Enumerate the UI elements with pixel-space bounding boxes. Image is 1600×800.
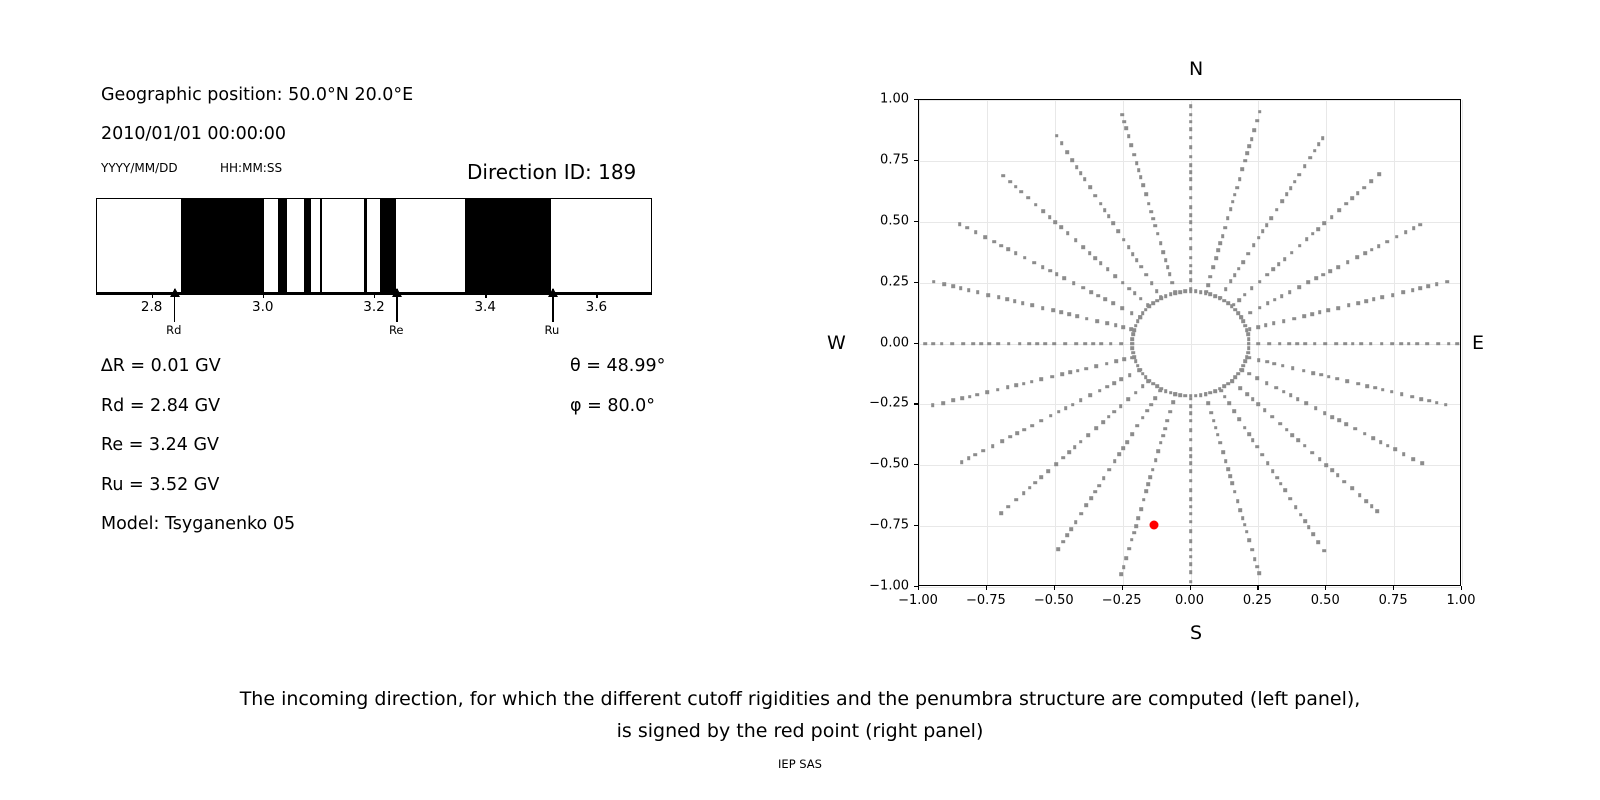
direction-point [1014, 498, 1018, 502]
direction-point [1288, 497, 1292, 501]
direction-point [1263, 408, 1267, 412]
direction-point [1226, 217, 1230, 221]
direction-point [1331, 415, 1335, 419]
direction-point [1313, 342, 1317, 346]
direction-point [1363, 432, 1367, 436]
angle-parameter-row: θ = 48.99° [570, 356, 665, 376]
direction-point [1415, 342, 1419, 346]
direction-point [1189, 163, 1193, 167]
direction-point [1407, 342, 1411, 346]
direction-point [1224, 287, 1228, 291]
direction-point [1160, 387, 1164, 391]
direction-point [1245, 530, 1249, 534]
direction-point [1142, 498, 1146, 502]
direction-point [958, 222, 962, 226]
direction-point [1049, 414, 1053, 418]
direction-point [1412, 226, 1416, 230]
direction-point [1189, 462, 1193, 466]
direction-point [1393, 448, 1397, 452]
direction-point [1107, 415, 1111, 419]
direction-point [1296, 438, 1300, 442]
direction-point [1418, 223, 1422, 227]
direction-point [1189, 278, 1193, 282]
direction-point [1337, 419, 1341, 423]
x-axis-tick-label: 0.00 [1175, 593, 1204, 608]
direction-point [1402, 452, 1406, 456]
penumbra-band [278, 199, 287, 292]
direction-point [1121, 447, 1125, 451]
direction-point [1209, 293, 1213, 297]
direction-point [1302, 369, 1306, 373]
direction-point [1090, 290, 1094, 294]
direction-point [1233, 490, 1237, 494]
direction-point [1189, 247, 1193, 251]
direction-point [1141, 385, 1145, 389]
direction-point [1327, 375, 1331, 379]
direction-point [1267, 342, 1271, 346]
direction-point [1071, 403, 1075, 407]
direction-point [1084, 367, 1088, 371]
direction-point [1113, 410, 1117, 414]
direction-point [1372, 298, 1376, 302]
x-axis-tick-label: 1.00 [1447, 593, 1476, 608]
direction-point [1356, 382, 1360, 386]
direction-point [1040, 419, 1044, 423]
direction-point [1279, 482, 1283, 486]
direction-point [1022, 428, 1026, 432]
x-axis-tick-label: 0.50 [1311, 593, 1340, 608]
direction-point [1064, 406, 1068, 410]
direction-point [1214, 256, 1218, 260]
direction-point [1199, 290, 1203, 294]
direction-point [1074, 342, 1078, 346]
direction-point [1020, 190, 1024, 194]
direction-point [1314, 407, 1318, 411]
direction-point [1303, 444, 1307, 448]
direction-point [1168, 272, 1172, 276]
direction-point [1358, 493, 1362, 497]
rigidity-marker-label: Re [389, 323, 404, 337]
figure-caption: The incoming direction, for which the di… [0, 683, 1600, 747]
direction-point [1447, 342, 1451, 346]
direction-point [1051, 309, 1055, 313]
direction-point [1065, 150, 1069, 154]
direction-point [1337, 265, 1341, 269]
compass-label-north: N [1189, 58, 1203, 80]
direction-point [1056, 547, 1060, 551]
direction-point [1189, 178, 1193, 182]
direction-point [1060, 142, 1064, 146]
direction-point [1322, 549, 1326, 553]
direction-point [1336, 306, 1340, 310]
footer-text: IEP SAS [0, 757, 1600, 771]
direction-point [1269, 216, 1273, 220]
direction-point [1343, 480, 1347, 484]
direction-point [1412, 457, 1416, 461]
parameter-row: Re = 3.24 GV [101, 435, 219, 455]
direction-point [1189, 520, 1193, 524]
direction-point [1385, 240, 1389, 244]
direction-point [1094, 426, 1098, 430]
direction-point [1039, 476, 1043, 480]
y-axis-tick-label: −0.75 [854, 518, 909, 533]
direction-point [1217, 248, 1221, 252]
direction-point [1277, 263, 1281, 267]
direction-point [961, 342, 965, 346]
direction-point [1189, 469, 1193, 473]
direction-point [1067, 312, 1071, 316]
direction-point [1015, 431, 1019, 435]
direction-point [1125, 440, 1129, 444]
gridline-vertical [1394, 100, 1395, 585]
direction-point [1272, 322, 1276, 326]
direction-point [1343, 342, 1347, 346]
direction-point [1168, 410, 1172, 414]
direction-point [1048, 216, 1052, 220]
direction-point [1289, 393, 1293, 397]
direction-point [1021, 301, 1025, 305]
penumbra-band [364, 199, 367, 292]
direction-point [1411, 288, 1415, 292]
direction-point [1141, 372, 1145, 376]
direction-point [1214, 426, 1218, 430]
arrow-head-icon [548, 288, 558, 297]
penumbra-band-chart [96, 198, 652, 293]
y-axis-tick [914, 221, 918, 222]
direction-point [1238, 177, 1242, 181]
caption-line-2: is signed by the red point (right panel) [0, 715, 1600, 747]
direction-point [1132, 355, 1136, 359]
direction-point [1189, 529, 1193, 533]
direction-point [1122, 238, 1126, 242]
direction-point [1325, 464, 1329, 468]
direction-point [1256, 376, 1260, 380]
direction-point [1288, 290, 1292, 294]
direction-point [1079, 171, 1083, 175]
direction-point [1213, 294, 1217, 298]
direction-point [1317, 143, 1321, 147]
direction-point [992, 240, 996, 244]
direction-point [1065, 534, 1069, 538]
direction-point [1346, 379, 1350, 383]
direction-point [976, 291, 980, 295]
direction-point [1222, 299, 1226, 303]
direction-point [1174, 291, 1178, 295]
direction-point [1189, 120, 1193, 124]
direction-point [980, 342, 984, 346]
axis-tick [263, 293, 264, 298]
direction-point [1351, 342, 1355, 346]
direction-point [1136, 517, 1140, 521]
direction-point [1189, 555, 1193, 559]
direction-point [1376, 509, 1380, 513]
direction-point [1298, 244, 1302, 248]
direction-point [1106, 385, 1110, 389]
direction-point [1106, 267, 1110, 271]
direction-point [1007, 505, 1011, 509]
direction-point [1008, 435, 1012, 439]
direction-point [1099, 261, 1103, 265]
parameter-row: Ru = 3.52 GV [101, 475, 219, 495]
gridline-horizontal [919, 344, 1460, 345]
parameter-row: ∆R = 0.01 GV [101, 356, 221, 376]
direction-point [1081, 286, 1085, 290]
direction-point [1030, 424, 1034, 428]
direction-point [1400, 393, 1404, 397]
direction-point [1257, 358, 1261, 362]
direction-point [1107, 468, 1111, 472]
direction-point [1435, 283, 1439, 287]
direction-point [1330, 215, 1334, 219]
gridline-vertical [1462, 100, 1463, 585]
direction-point [1060, 311, 1064, 315]
y-axis-tick-label: −0.25 [854, 396, 909, 411]
direction-point [1324, 342, 1328, 346]
direction-point [1370, 248, 1374, 252]
direction-point [931, 404, 935, 408]
direction-point [1121, 306, 1125, 310]
direction-point [1107, 215, 1111, 219]
direction-point [1103, 209, 1107, 213]
direction-point [1244, 324, 1248, 328]
direction-point [1370, 504, 1374, 508]
direction-point [1068, 371, 1072, 375]
direction-point [1303, 342, 1307, 346]
axis-tick-label: 3.0 [252, 299, 273, 315]
direction-point [1189, 479, 1193, 483]
penumbra-band [181, 199, 265, 292]
direction-point [1059, 226, 1063, 230]
direction-point [1335, 377, 1339, 381]
direction-point [1237, 372, 1241, 376]
direction-point [1248, 539, 1252, 543]
direction-point [1299, 513, 1303, 517]
direction-point [1257, 571, 1261, 575]
direction-point [1221, 235, 1225, 239]
direction-point [1258, 306, 1262, 310]
direction-point [1040, 378, 1044, 382]
direction-point [1013, 299, 1017, 303]
direction-point [1136, 364, 1140, 368]
gridline-horizontal [919, 465, 1460, 466]
direction-point [1391, 342, 1395, 346]
direction-point [1131, 252, 1135, 256]
direction-point [1119, 378, 1123, 382]
direction-point [1131, 333, 1135, 337]
gridline-horizontal [919, 283, 1460, 284]
direction-point [1079, 512, 1083, 516]
direction-point [1381, 388, 1385, 392]
direction-point [1075, 165, 1079, 169]
y-axis-tick [914, 586, 918, 587]
x-axis-tick [1190, 586, 1191, 590]
direction-point [967, 457, 971, 461]
direction-point [1084, 342, 1088, 346]
direction-point [1189, 105, 1193, 109]
direction-point [1229, 207, 1233, 211]
direction-point [1189, 512, 1193, 516]
y-axis-tick [914, 160, 918, 161]
direction-point [1222, 385, 1226, 389]
direction-point [1099, 202, 1103, 206]
direction-point [1308, 156, 1312, 160]
direction-point [1189, 570, 1193, 574]
direction-point [1120, 342, 1124, 346]
direction-point [1164, 389, 1168, 393]
direction-point [1189, 206, 1193, 210]
direction-point [1153, 224, 1157, 228]
direction-point [1247, 346, 1251, 350]
direction-point [1356, 192, 1360, 196]
x-axis-tick [1325, 586, 1326, 590]
direction-point [1149, 476, 1153, 480]
direction-point [1130, 342, 1134, 346]
direction-point [1243, 293, 1247, 297]
direction-point [1243, 426, 1247, 430]
direction-point [1061, 540, 1065, 544]
direction-point [1189, 170, 1193, 174]
direction-point [1245, 328, 1249, 332]
direction-point [1379, 440, 1383, 444]
direction-point [1132, 153, 1136, 157]
direction-point [1420, 462, 1424, 466]
x-axis-tick-label: 0.25 [1243, 593, 1272, 608]
direction-point [1093, 490, 1097, 494]
direction-point [1246, 252, 1250, 256]
direction-point [1247, 342, 1251, 346]
direction-point [1105, 322, 1109, 326]
direction-point [1302, 314, 1306, 318]
direction-point [1219, 242, 1223, 246]
direction-point [1127, 134, 1131, 138]
penumbra-band [380, 199, 397, 292]
direction-point [1000, 244, 1004, 248]
direction-point [1226, 468, 1230, 472]
direction-point [1236, 499, 1240, 503]
direction-point [1135, 258, 1139, 262]
direction-point [1224, 460, 1228, 464]
direction-point [1265, 273, 1269, 277]
direction-point [1072, 281, 1076, 285]
arrow-head-icon [170, 288, 180, 297]
penumbra-band [465, 199, 551, 292]
direction-point [1260, 453, 1264, 457]
direction-point [1221, 450, 1225, 454]
direction-point [1233, 375, 1237, 379]
direction-point [1083, 178, 1087, 182]
direction-point [974, 453, 978, 457]
direction-point [1399, 342, 1403, 346]
direction-point [1030, 304, 1034, 308]
direction-point [1085, 317, 1089, 321]
direction-point [1455, 342, 1459, 346]
direction-point [1264, 324, 1268, 328]
direction-point [1391, 293, 1395, 297]
direction-point [1189, 404, 1193, 408]
direction-point [1274, 386, 1278, 390]
direction-point [1144, 192, 1148, 196]
direction-point [1145, 489, 1149, 493]
y-axis-tick-label: −1.00 [854, 579, 909, 594]
date-format-label: YYYY/MM/DD [101, 161, 178, 175]
direction-point [1164, 259, 1168, 263]
direction-point [1204, 392, 1208, 396]
direction-point [1101, 420, 1105, 424]
direction-point [1120, 573, 1124, 577]
direction-point [1189, 127, 1193, 131]
direction-point [1189, 228, 1193, 232]
direction-point [1252, 128, 1256, 132]
direction-point [1233, 273, 1237, 277]
direction-point [1297, 173, 1301, 177]
y-axis-tick [914, 282, 918, 283]
direction-point [1271, 469, 1275, 473]
direction-point [1066, 232, 1070, 236]
direction-point [968, 395, 972, 399]
direction-point [1139, 297, 1143, 301]
direction-point [1166, 265, 1170, 269]
direction-point [1130, 433, 1134, 437]
direction-point [1022, 382, 1026, 386]
direction-point [1283, 257, 1287, 261]
direction-point [1088, 185, 1092, 189]
direction-point [1283, 489, 1287, 493]
direction-point [1134, 391, 1138, 395]
y-axis-tick [914, 525, 918, 526]
direction-point [960, 397, 964, 401]
direction-point [1189, 580, 1193, 584]
direction-point [1230, 379, 1234, 383]
direction-point [1209, 411, 1213, 415]
x-axis-tick [1054, 586, 1055, 590]
gridline-horizontal [919, 526, 1460, 527]
direction-point [1127, 547, 1131, 551]
direction-point [1255, 445, 1259, 449]
direction-point [1336, 474, 1340, 478]
direction-point [1014, 251, 1018, 255]
right-panel: N S W E −1.00−1.00−0.75−0.75−0.50−0.50−0… [800, 0, 1600, 660]
direction-point [1280, 200, 1284, 204]
y-axis-tick-label: −0.50 [854, 457, 909, 472]
direction-point [1243, 159, 1247, 163]
direction-point [1099, 342, 1103, 346]
direction-point [1282, 390, 1286, 394]
direction-point [1199, 393, 1203, 397]
direction-point [1350, 487, 1354, 491]
direction-point [1237, 298, 1241, 302]
direction-point [1273, 362, 1277, 366]
direction-point [1252, 243, 1256, 247]
direction-point [1189, 411, 1193, 415]
direction-point [971, 342, 975, 346]
direction-point [1189, 419, 1193, 423]
selected-direction-point[interactable] [1149, 520, 1158, 529]
direction-point [1189, 196, 1193, 200]
direction-point [1255, 119, 1259, 123]
direction-point [1014, 185, 1018, 189]
direction-point [1420, 397, 1424, 401]
direction-point [1294, 505, 1298, 509]
direction-point [1248, 145, 1252, 149]
y-axis-tick-label: 1.00 [854, 92, 909, 107]
axis-tick-label: 3.2 [363, 299, 384, 315]
direction-point [1174, 392, 1178, 396]
direction-point [1086, 433, 1090, 437]
direction-point [1244, 360, 1248, 364]
compass-label-west: W [827, 332, 846, 354]
direction-point [1054, 462, 1058, 466]
direction-point [1189, 271, 1193, 275]
